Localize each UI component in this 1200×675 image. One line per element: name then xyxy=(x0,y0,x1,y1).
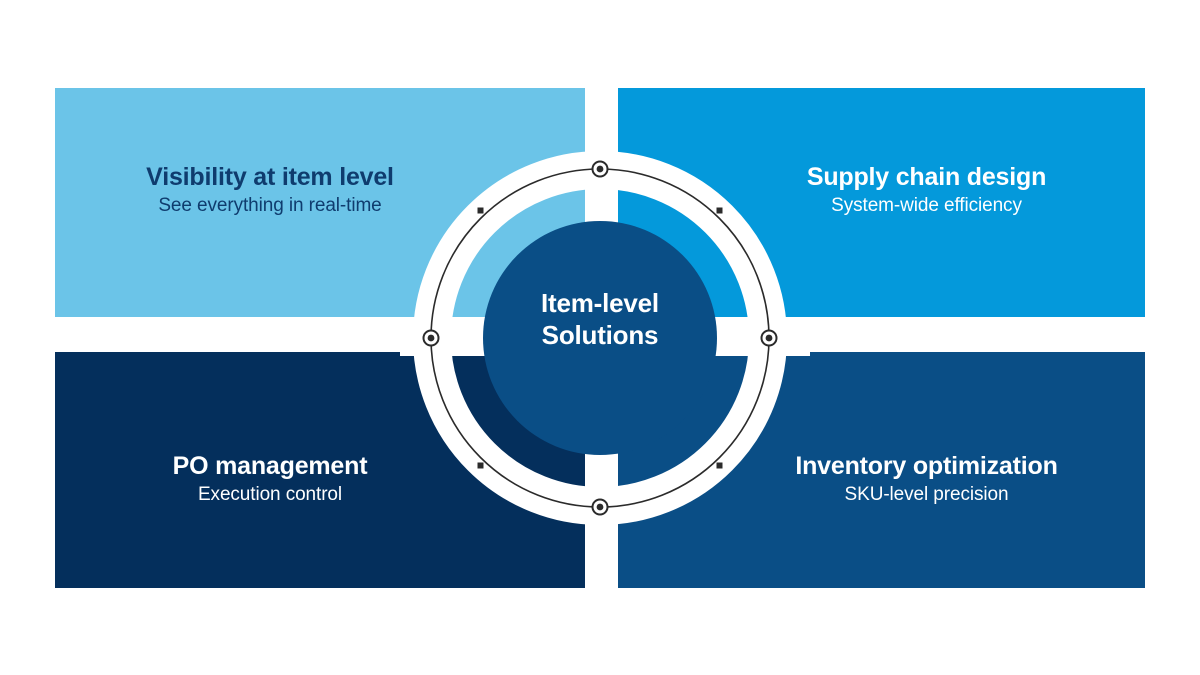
quadrant-top-left-title: Visibility at item level xyxy=(65,163,475,192)
hub-label: Item-level Solutions xyxy=(483,288,717,351)
quadrant-top-right-subtitle: System-wide efficiency xyxy=(718,194,1135,219)
quadrant-bottom-right-title: Inventory optimization xyxy=(718,452,1135,481)
marker-node-north-icon[interactable] xyxy=(593,162,608,177)
quadrant-bottom-left-subtitle: Execution control xyxy=(65,483,475,508)
marker-node-south-icon[interactable] xyxy=(593,500,608,515)
quadrant-top-right[interactable]: Supply chain design System-wide efficien… xyxy=(618,88,1145,317)
quadrant-bottom-left-content: PO management Execution control xyxy=(55,452,585,508)
quadrant-top-right-title: Supply chain design xyxy=(718,163,1135,192)
quadrant-bottom-right-content: Inventory optimization SKU-level precisi… xyxy=(618,452,1145,508)
quadrant-top-right-content: Supply chain design System-wide efficien… xyxy=(618,163,1145,219)
diagram-canvas: Visibility at item level See everything … xyxy=(0,0,1200,675)
quadrant-top-left-content: Visibility at item level See everything … xyxy=(55,163,585,219)
quadrant-top-left[interactable]: Visibility at item level See everything … xyxy=(55,88,585,317)
quadrant-bottom-left[interactable]: PO management Execution control xyxy=(55,352,585,588)
quadrant-bottom-left-title: PO management xyxy=(65,452,475,481)
quadrant-bottom-right[interactable]: Inventory optimization SKU-level precisi… xyxy=(618,352,1145,588)
hub-label-line-1: Item-level xyxy=(483,288,717,320)
spoke-south xyxy=(585,330,618,620)
marker-node-east-icon[interactable] xyxy=(762,331,777,346)
hub-label-line-2: Solutions xyxy=(483,320,717,352)
marker-node-west-icon[interactable] xyxy=(424,331,439,346)
quadrant-bottom-right-subtitle: SKU-level precision xyxy=(718,483,1135,508)
quadrant-top-left-subtitle: See everything in real-time xyxy=(65,194,475,219)
